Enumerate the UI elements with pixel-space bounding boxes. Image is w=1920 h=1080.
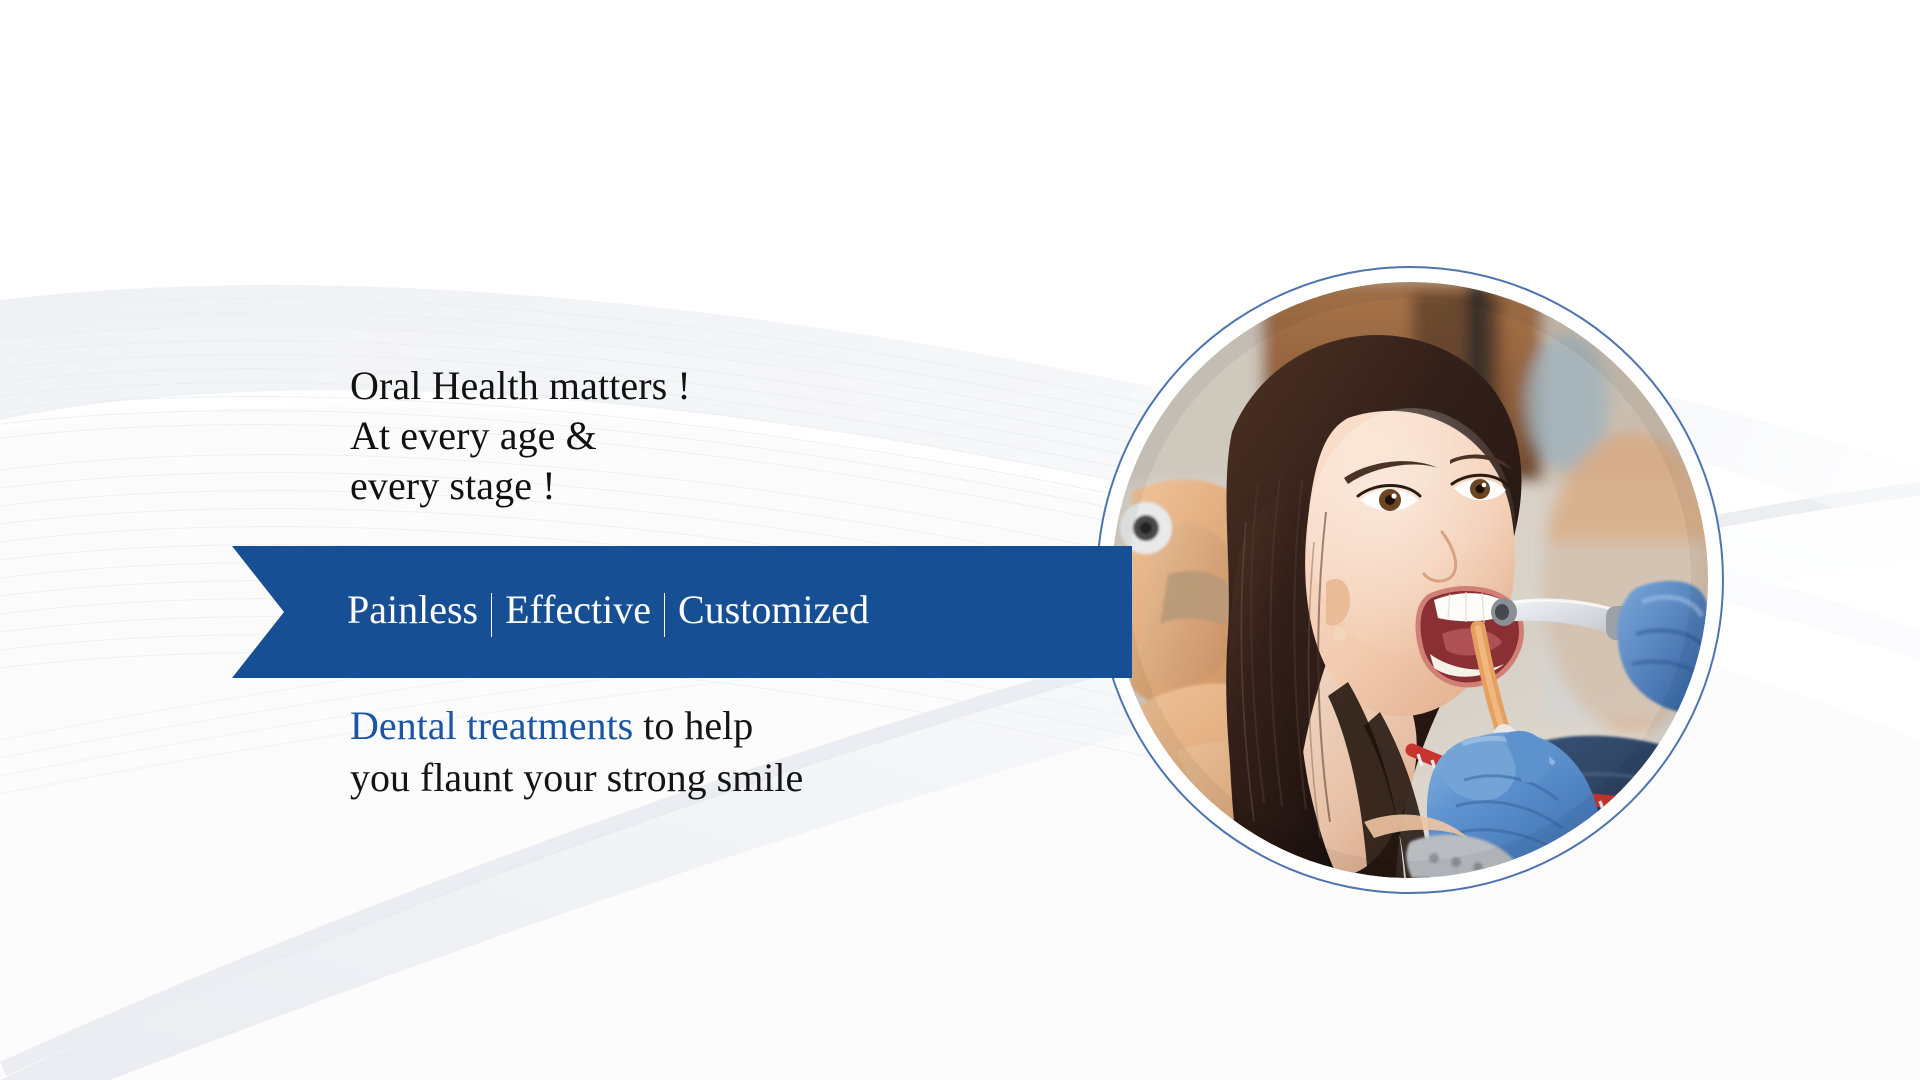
subcopy-block: Dental treatments to help you flaunt you… [350, 700, 1110, 804]
feature-effective: Effective [505, 585, 651, 635]
headline-line-2: At every age & [350, 411, 1070, 461]
ribbon-separator-2 [664, 593, 665, 637]
features-ribbon-text: Painless Effective Customized [347, 573, 1137, 647]
dental-patient-photo [1112, 282, 1708, 878]
headline-line-3: every stage ! [350, 461, 1070, 511]
headline-block: Oral Health matters ! At every age & eve… [350, 361, 1070, 511]
subcopy-line-2: you flaunt your strong smile [350, 752, 1110, 804]
subcopy-accent: Dental treatments [350, 703, 633, 748]
headline-line-1: Oral Health matters ! [350, 361, 1070, 411]
feature-customized: Customized [678, 585, 869, 635]
dental-banner: Oral Health matters ! At every age & eve… [0, 0, 1920, 1080]
subcopy-rest: to help [633, 703, 753, 748]
ribbon-separator-1 [491, 593, 492, 637]
feature-painless: Painless [347, 585, 478, 635]
subcopy-line-1: Dental treatments to help [350, 700, 1110, 752]
